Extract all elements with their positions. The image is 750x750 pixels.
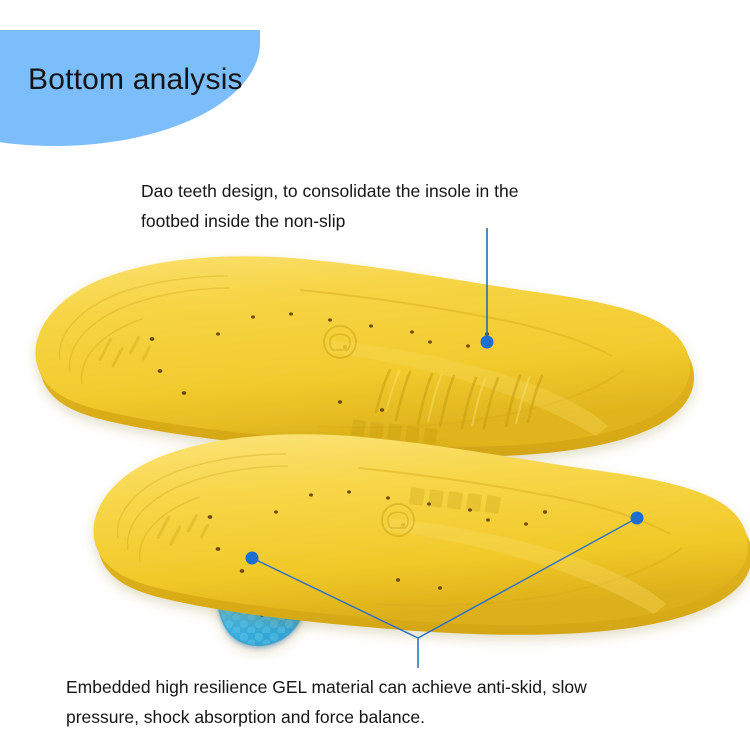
caption-gel-material: Embedded high resilience GEL material ca… (66, 672, 726, 732)
caption-dao-teeth: Dao teeth design, to consolidate the ins… (141, 176, 681, 236)
lower-insole (94, 434, 750, 660)
page-title: Bottom analysis (28, 63, 243, 97)
product-photo (0, 230, 750, 660)
product-infographic-page: Bottom analysis Dao teeth design, to con… (0, 0, 750, 750)
insole-pair-illustration (0, 230, 750, 660)
